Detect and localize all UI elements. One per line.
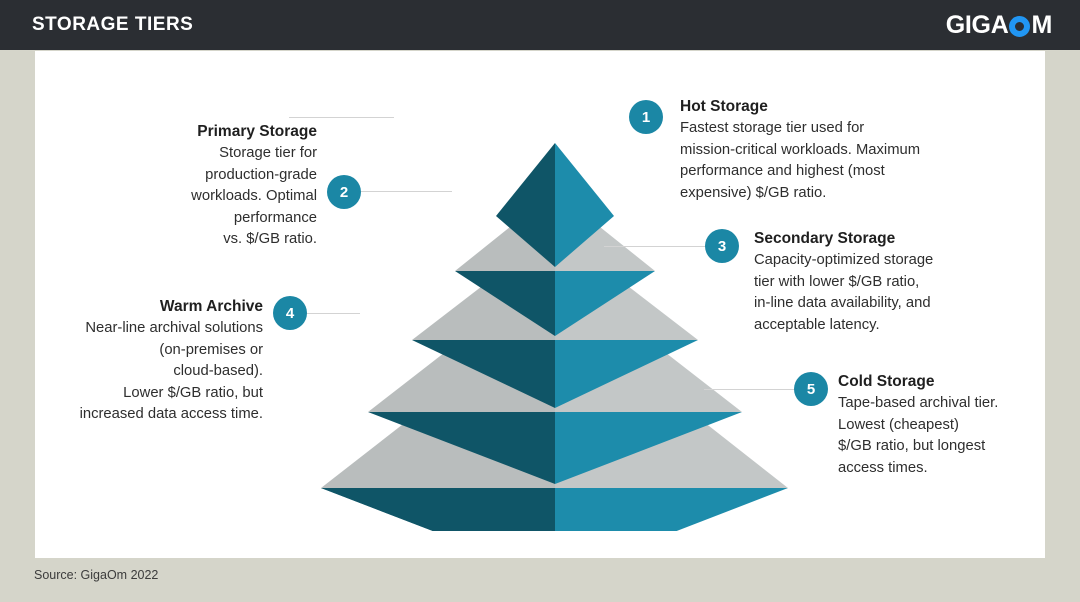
callout-warm-archive-title: Warm Archive [35,297,263,317]
callout-primary-line-5: vs. $/GB ratio. [135,229,317,251]
callout-cold-storage: Cold Storage Tape-based archival tier. L… [838,372,1080,479]
callout-primary-line-1: Storage tier for [135,143,317,165]
callout-cold-storage-title: Cold Storage [838,372,1080,392]
callout-hot-line-3: performance and highest (most [680,161,1000,183]
callout-primary-storage-title: Primary Storage [135,122,317,142]
page-title: STORAGE TIERS [32,14,193,36]
callout-hot-storage: Hot Storage Fastest storage tier used fo… [680,97,1000,204]
callout-hot-line-1: Fastest storage tier used for [680,118,1000,140]
tier-badge-3[interactable]: 3 [705,229,739,263]
callout-cold-line-4: access times. [838,458,1080,480]
callout-hot-storage-body: Fastest storage tier used for mission-cr… [680,118,1000,204]
callout-secondary-storage-title: Secondary Storage [754,229,1054,249]
leader-line-1 [289,117,394,118]
callout-secondary-line-1: Capacity-optimized storage [754,250,1054,272]
callout-primary-line-3: workloads. Optimal [135,186,317,208]
callout-primary-line-2: production-grade [135,165,317,187]
callout-cold-line-1: Tape-based archival tier. [838,393,1080,415]
chart-canvas: 1 2 3 4 5 Hot Storage Fastest storage ti… [35,51,1045,558]
callout-secondary-line-4: acceptable latency. [754,315,1054,337]
callout-warm-archive: Warm Archive Near-line archival solution… [35,297,263,426]
leader-line-3 [604,246,718,247]
callout-warm-archive-body: Near-line archival solutions (on-premise… [35,318,263,426]
callout-cold-line-3: $/GB ratio, but longest [838,436,1080,458]
logo-text-part2: M [1031,11,1052,40]
source-note: Source: GigaOm 2022 [34,568,158,582]
callout-cold-storage-body: Tape-based archival tier. Lowest (cheape… [838,393,1080,479]
tier-badge-5[interactable]: 5 [794,372,828,406]
leader-line-2 [357,191,452,192]
gigaom-logo: GIGA M [946,11,1052,40]
callout-hot-line-4: expensive) $/GB ratio. [680,183,1000,205]
infographic-root: STORAGE TIERS GIGA M [0,0,1080,602]
tier-badge-1[interactable]: 1 [629,100,663,134]
callout-cold-line-2: Lowest (cheapest) [838,415,1080,437]
callout-primary-line-4: performance [135,208,317,230]
callout-warm-line-2: (on-premises or [35,340,263,362]
callout-hot-storage-title: Hot Storage [680,97,1000,117]
logo-text-part1: GIGA [946,11,1009,40]
tier-badge-2[interactable]: 2 [327,175,361,209]
tier-badge-4[interactable]: 4 [273,296,307,330]
callout-primary-storage: Primary Storage Storage tier for product… [135,122,317,251]
logo-o-icon [1009,16,1030,37]
callout-secondary-line-3: in-line data availability, and [754,293,1054,315]
callout-warm-line-3: cloud-based). [35,361,263,383]
callout-secondary-storage: Secondary Storage Capacity-optimized sto… [754,229,1054,336]
callout-warm-line-1: Near-line archival solutions [35,318,263,340]
leader-line-4 [305,313,360,314]
callout-hot-line-2: mission-critical workloads. Maximum [680,140,1000,162]
callout-secondary-line-2: tier with lower $/GB ratio, [754,272,1054,294]
callout-secondary-storage-body: Capacity-optimized storage tier with low… [754,250,1054,336]
callout-warm-line-5: increased data access time. [35,404,263,426]
callout-warm-line-4: Lower $/GB ratio, but [35,383,263,405]
header-bar: STORAGE TIERS GIGA M [0,0,1080,50]
callout-primary-storage-body: Storage tier for production-grade worklo… [135,143,317,251]
